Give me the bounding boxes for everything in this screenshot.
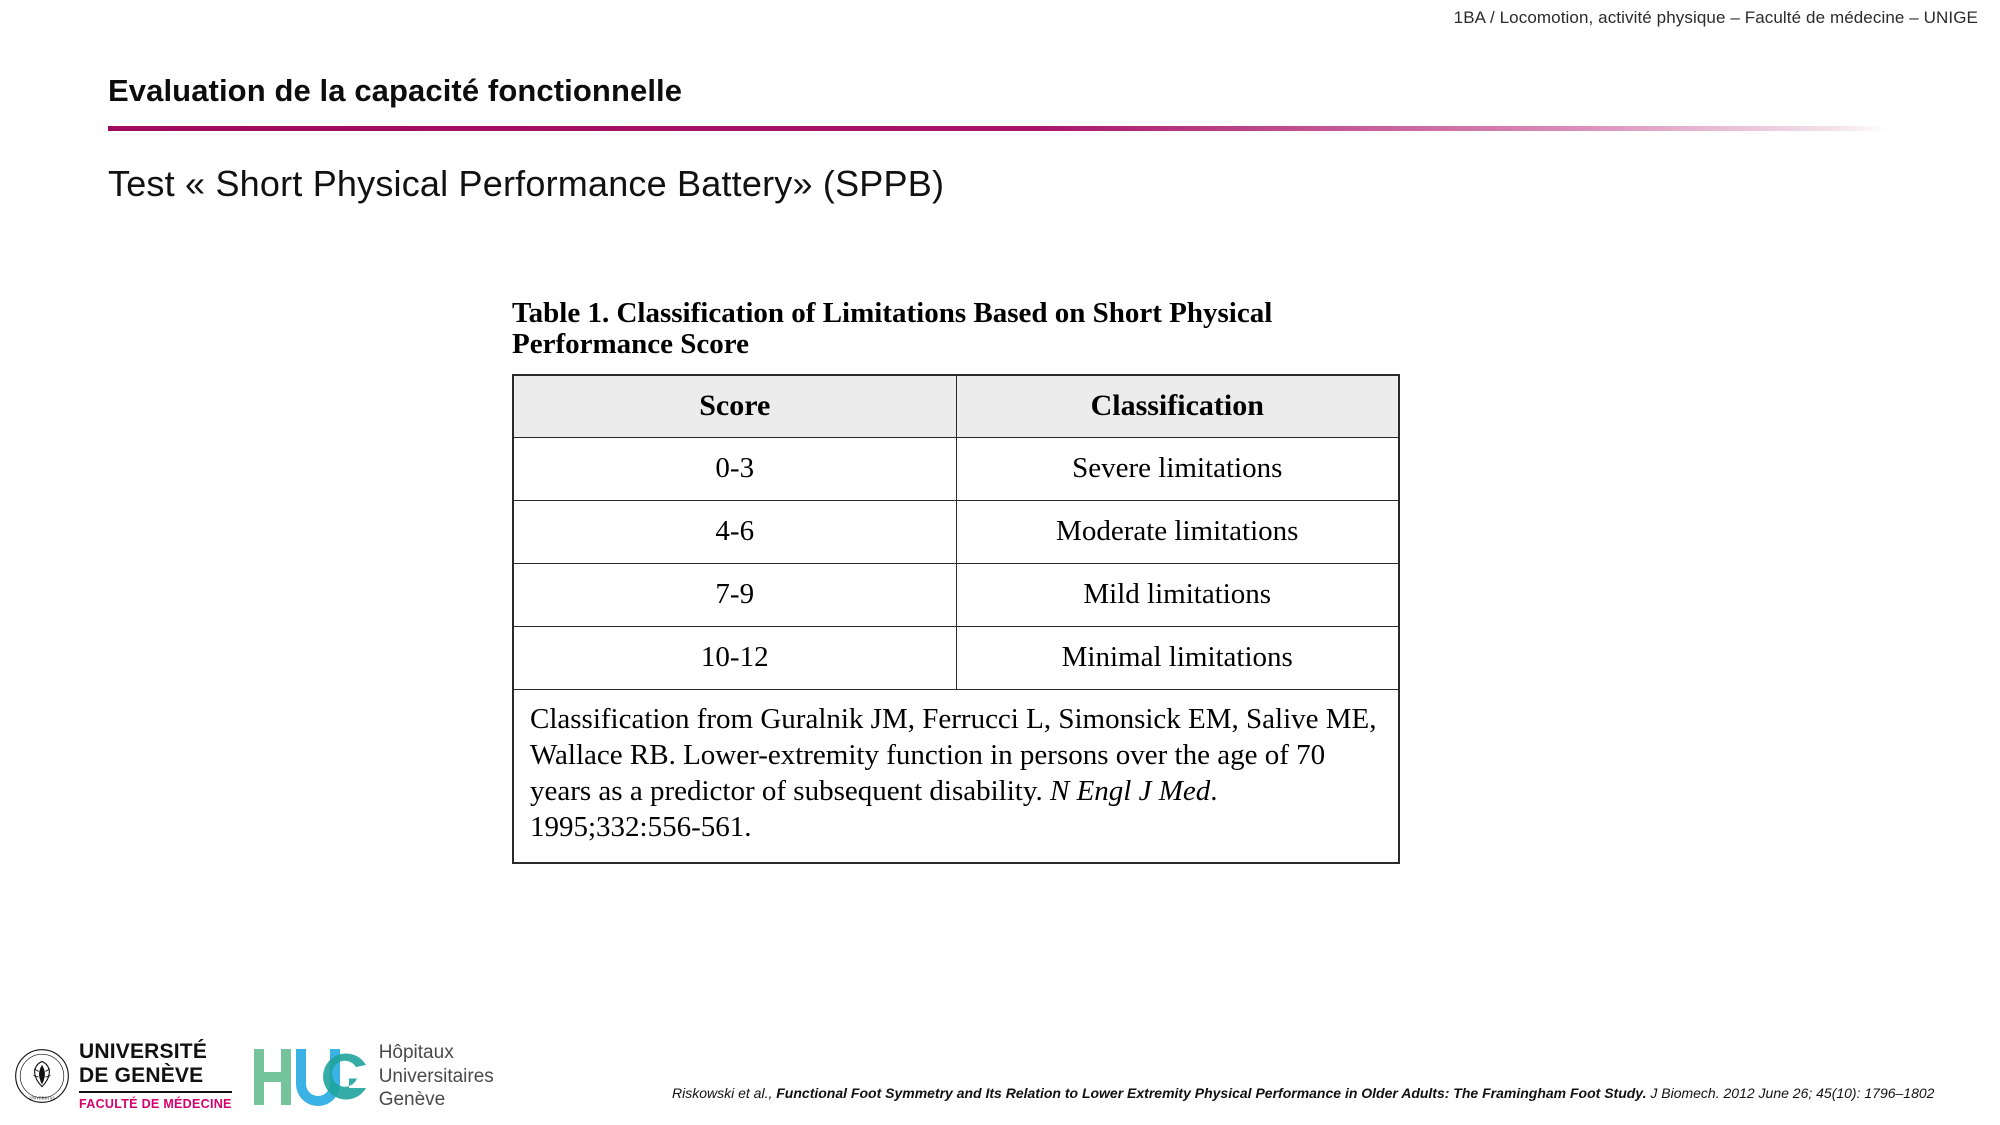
cell-classification: Moderate limitations <box>956 501 1399 564</box>
unige-seal-icon: UNIVERSITAS <box>14 1048 70 1104</box>
cell-score: 0-3 <box>513 438 956 501</box>
page-title: Evaluation de la capacité fonctionnelle <box>108 73 682 109</box>
table-header: Score Classification <box>513 375 1399 438</box>
unige-faculty-label: FACULTÉ DE MÉDECINE <box>79 1098 232 1111</box>
hug-wordmark: Hôpitaux Universitaires Genève <box>379 1041 494 1111</box>
hug-line3: Genève <box>379 1088 494 1111</box>
hug-line2: Universitaires <box>379 1065 494 1088</box>
column-header-classification: Classification <box>956 375 1399 438</box>
cell-classification: Severe limitations <box>956 438 1399 501</box>
table-note-row: Classification from Guralnik JM, Ferrucc… <box>513 690 1399 863</box>
slide-subtitle: Test « Short Physical Performance Batter… <box>108 163 944 205</box>
unige-logo: UNIVERSITAS UNIVERSITÉ DE GENÈVE FACULTÉ… <box>14 1041 232 1111</box>
table-source-note: Classification from Guralnik JM, Ferrucc… <box>513 690 1399 863</box>
svg-text:UNIVERSITAS: UNIVERSITAS <box>29 1097 54 1101</box>
cell-score: 10-12 <box>513 627 956 690</box>
hug-line1: Hôpitaux <box>379 1041 494 1064</box>
hug-logo: Hôpitaux Universitaires Genève <box>252 1041 494 1111</box>
slide-footer: UNIVERSITAS UNIVERSITÉ DE GENÈVE FACULTÉ… <box>0 1005 2000 1125</box>
source-credit: Riskowski et al., Functional Foot Symmet… <box>672 1085 1934 1101</box>
table-row: 7-9 Mild limitations <box>513 564 1399 627</box>
cell-classification: Minimal limitations <box>956 627 1399 690</box>
cell-classification: Mild limitations <box>956 564 1399 627</box>
slide-canvas: 1BA / Locomotion, activité physique – Fa… <box>0 0 2000 1125</box>
figure-container: Table 1. Classification of Limitations B… <box>512 298 1400 864</box>
note-journal-name: N Engl J Med <box>1050 775 1210 807</box>
table-body: 0-3 Severe limitations 4-6 Moderate limi… <box>513 438 1399 863</box>
course-header-label: 1BA / Locomotion, activité physique – Fa… <box>1454 8 1978 28</box>
cell-score: 7-9 <box>513 564 956 627</box>
sppb-classification-table: Score Classification 0-3 Severe limitati… <box>512 374 1400 864</box>
table-row: 10-12 Minimal limitations <box>513 627 1399 690</box>
unige-wordmark: UNIVERSITÉ DE GENÈVE FACULTÉ DE MÉDECINE <box>79 1041 232 1111</box>
note-prefix-text: Classification from Guralnik JM, Ferrucc… <box>530 703 1377 807</box>
column-header-score: Score <box>513 375 956 438</box>
table-row: 0-3 Severe limitations <box>513 438 1399 501</box>
table-caption: Table 1. Classification of Limitations B… <box>512 298 1417 360</box>
table-row: 4-6 Moderate limitations <box>513 501 1399 564</box>
footer-logos: UNIVERSITAS UNIVERSITÉ DE GENÈVE FACULTÉ… <box>14 1041 494 1111</box>
unige-line2: DE GENÈVE <box>79 1065 232 1093</box>
credit-authors: Riskowski et al., <box>672 1085 776 1101</box>
table-header-row: Score Classification <box>513 375 1399 438</box>
unige-line1: UNIVERSITÉ <box>79 1041 232 1062</box>
hug-logomark-icon <box>252 1045 368 1107</box>
credit-title: Functional Foot Symmetry and Its Relatio… <box>776 1085 1646 1101</box>
cell-score: 4-6 <box>513 501 956 564</box>
credit-source: J Biomech. 2012 June 26; 45(10): 1796–18… <box>1646 1085 1934 1101</box>
title-divider-rule <box>108 126 1888 131</box>
